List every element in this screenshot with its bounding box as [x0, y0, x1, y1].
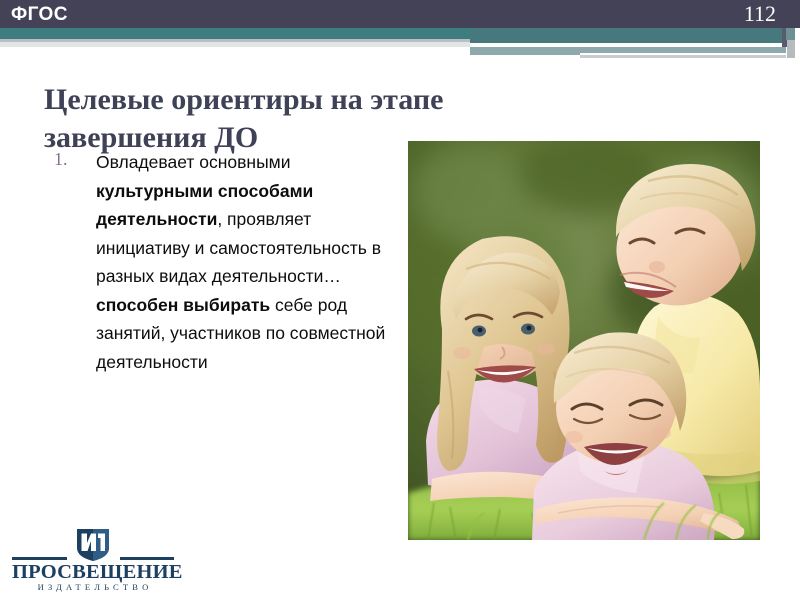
logo-rule-right [120, 557, 174, 560]
header-brand-label: ФГОС [11, 3, 68, 26]
title-segment-bold-1: на этапе [330, 83, 443, 116]
logo-subtitle: ИЗДАТЕЛЬСТВО [12, 582, 174, 592]
slide-header: ФГОС 112 [0, 0, 800, 28]
header-gray-foot-right [580, 55, 786, 58]
page-number: 112 [744, 0, 776, 27]
logo-rule-left [12, 557, 67, 560]
photo-children-on-grass [408, 141, 760, 540]
logo-emblem-row [12, 528, 174, 564]
list-item-text: Овладевает основными культурными способа… [96, 148, 390, 376]
list-item: 1. Овладевает основными культурными спос… [50, 148, 390, 376]
logo-wordmark: ПРОСВЕЩЕНИЕ [12, 561, 174, 583]
content-list: 1. Овладевает основными культурными спос… [50, 148, 390, 376]
logo-shield-icon [72, 528, 114, 562]
list-item-segment: способен выбирать [96, 295, 270, 315]
list-item-segment: Овладевает основными [96, 152, 290, 172]
title-segment-regular-1: Целевые ориентиры [44, 83, 330, 116]
header-teal-band-right [470, 28, 786, 43]
right-edge-strip-teal [786, 28, 795, 40]
header-light-band-left [0, 42, 474, 47]
list-item-marker: 1. [54, 149, 68, 170]
photo-illustration [408, 141, 760, 540]
publisher-logo: ПРОСВЕЩЕНИЕ ИЗДАТЕЛЬСТВО [12, 528, 174, 590]
